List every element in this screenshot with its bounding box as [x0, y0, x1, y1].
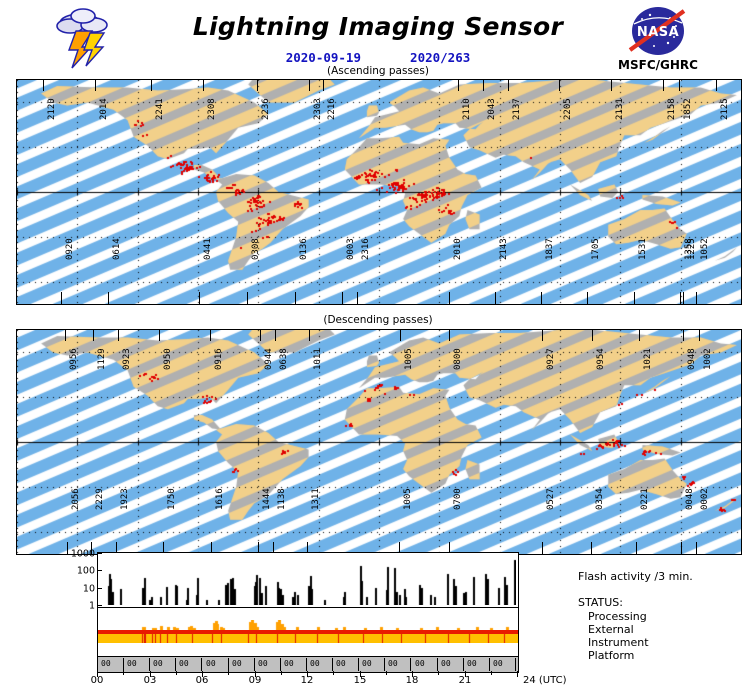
orbit-tick: [683, 330, 684, 341]
orbit-time-label: 2131: [615, 98, 625, 120]
orbit-time-label: 2316: [361, 238, 371, 260]
orbit-tick: [541, 292, 542, 304]
nasa-meatball-icon: NASA: [624, 6, 692, 56]
orbit-tick: [93, 330, 94, 341]
orbit-tick: [592, 330, 593, 341]
orbit-tick: [210, 330, 211, 341]
time-block[interactable]: 00: [438, 658, 464, 671]
time-axis-tick: [386, 671, 387, 675]
orbit-time-label: 2303: [313, 98, 323, 120]
orbit-time-label: 1011: [313, 348, 323, 370]
orbit-time-label: 1002: [703, 348, 713, 370]
orbit-time-label: 0956: [69, 348, 79, 370]
orbit-tick: [199, 292, 200, 304]
status-label-external: External: [588, 623, 634, 636]
time-axis-label: 03: [144, 675, 157, 686]
orbit-time-label: 0136: [299, 238, 309, 260]
time-block[interactable]: 00: [176, 658, 202, 671]
orbit-time-label: 0221: [640, 488, 650, 510]
bottom-panel: 1101001000 00000000000000000000000000000…: [0, 548, 756, 680]
time-block-label: 00: [284, 659, 294, 668]
orbit-tick: [634, 292, 635, 304]
time-axis-tick: [517, 671, 518, 677]
orbit-time-label: 0944: [264, 348, 274, 370]
orbit-time-label: 1750: [167, 488, 177, 510]
orbit-tick: [108, 292, 109, 304]
orbit-time-label: 0527: [546, 488, 556, 510]
time-block[interactable]: 00: [333, 658, 359, 671]
time-axis-label: 21: [459, 675, 472, 686]
orbit-time-label: 2241: [155, 98, 165, 120]
orbit-time-label: 0638: [279, 348, 289, 370]
ascending-passes-map[interactable]: 2120201422412308223623032216211020432137…: [16, 79, 742, 305]
time-axis-tick: [123, 671, 124, 675]
time-block-label: 00: [232, 659, 242, 668]
external-status-canvas: [98, 620, 516, 630]
time-block-label: 00: [467, 659, 477, 668]
svg-text:NASA: NASA: [637, 25, 679, 40]
utc-axis-label: 24 (UTC): [523, 675, 567, 686]
flash-y-tick: [98, 570, 102, 571]
orbit-tick: [680, 292, 681, 304]
ascending-map-canvas: [17, 80, 741, 304]
orbit-tick: [542, 330, 543, 341]
orbit-time-label: 1129: [97, 348, 107, 370]
time-block[interactable]: 00: [412, 658, 438, 671]
orbit-tick: [458, 80, 459, 91]
time-block[interactable]: 00: [385, 658, 411, 671]
time-axis-tick: [176, 671, 177, 675]
orbit-tick: [679, 80, 680, 91]
time-block-label: 00: [206, 659, 216, 668]
orbit-tick: [247, 292, 248, 304]
orbit-time-label: 0003: [346, 238, 356, 260]
orbit-time-label: 1531: [638, 238, 648, 260]
orbit-tick: [611, 80, 612, 91]
orbit-tick: [203, 80, 204, 91]
orbit-tick: [309, 80, 310, 91]
orbit-tick: [342, 292, 343, 304]
orbit-time-label: 1225: [687, 238, 697, 260]
orbit-tick: [309, 330, 310, 341]
orbit-time-label: 1138: [277, 488, 287, 510]
orbit-tick: [323, 80, 324, 91]
orbit-tick: [257, 80, 258, 91]
flash-activity-canvas: [98, 553, 516, 605]
flash-y-tick: [98, 588, 102, 589]
orbit-tick: [260, 330, 261, 341]
orbit-time-label: 1005: [403, 488, 413, 510]
time-block-label: 00: [415, 659, 425, 668]
time-block[interactable]: 00: [229, 658, 255, 671]
time-block[interactable]: 00: [359, 658, 385, 671]
time-axis-label: 18: [406, 675, 419, 686]
orbit-time-label: 0923: [122, 348, 132, 370]
orbit-tick: [275, 330, 276, 341]
orbit-tick: [159, 330, 160, 341]
orbit-time-label: 2043: [487, 98, 497, 120]
orbit-time-label: 2014: [99, 98, 109, 120]
time-block[interactable]: 00: [307, 658, 333, 671]
orbit-time-label: 2216: [327, 98, 337, 120]
time-block[interactable]: 00: [150, 658, 176, 671]
instrument-ticks-canvas: [98, 634, 516, 643]
orbit-tick: [449, 330, 450, 341]
orbit-time-label: 2056: [71, 488, 81, 510]
observation-date: 2020-09-19: [286, 50, 361, 65]
time-axis-label: 12: [301, 675, 314, 686]
status-label-platform: Platform: [588, 649, 634, 662]
orbit-time-label: 0354: [595, 488, 605, 510]
time-axis-tick: [333, 671, 334, 675]
time-block-label: 00: [101, 659, 111, 668]
orbit-time-label: 2229: [95, 488, 105, 510]
time-axis-label: 15: [354, 675, 367, 686]
time-block[interactable]: 00: [464, 658, 490, 671]
day-of-year: 2020/263: [410, 50, 470, 65]
time-block[interactable]: 00: [255, 658, 281, 671]
time-block-label: 00: [388, 659, 398, 668]
orbit-time-label: 0800: [453, 348, 463, 370]
orbit-tick: [43, 80, 44, 91]
agency-label: MSFC/GHRC: [596, 58, 720, 72]
time-block-label: 00: [258, 659, 268, 668]
orbit-time-label: 0048: [685, 488, 695, 510]
orbit-tick: [508, 80, 509, 91]
orbit-tick: [683, 292, 684, 304]
time-block[interactable]: 00: [281, 658, 307, 671]
orbit-tick: [357, 292, 358, 304]
flash-y-tick-label: 10: [83, 584, 95, 594]
time-block[interactable]: 00: [98, 658, 124, 671]
orbit-time-label: 1021: [643, 348, 653, 370]
orbit-tick: [587, 292, 588, 304]
time-axis-label: 06: [196, 675, 209, 686]
orbit-tick: [95, 80, 96, 91]
orbit-tick: [400, 330, 401, 341]
time-axis-label: 09: [249, 675, 262, 686]
time-block-label: 00: [127, 659, 137, 668]
orbit-time-label: 0614: [112, 238, 122, 260]
orbit-time-label: 1837: [545, 238, 555, 260]
orbit-time-label: 1616: [215, 488, 225, 510]
orbit-time-label: 1852: [683, 98, 693, 120]
orbit-tick: [495, 292, 496, 304]
time-axis-label: 00: [91, 675, 104, 686]
time-block-label: 00: [362, 659, 372, 668]
orbit-tick: [663, 80, 664, 91]
orbit-tick: [559, 80, 560, 91]
time-block-label: 00: [493, 659, 503, 668]
orbit-time-label: 0308: [251, 238, 261, 260]
orbit-time-label: 2125: [720, 98, 730, 120]
orbit-time-label: 2236: [261, 98, 271, 120]
time-block-label: 00: [310, 659, 320, 668]
orbit-time-label: 2158: [667, 98, 677, 120]
status-legend-title: STATUS:: [578, 596, 623, 609]
orbit-time-label: 1705: [591, 238, 601, 260]
orbit-time-label: 1005: [404, 348, 414, 370]
time-axis: 0003060912151821: [97, 671, 519, 680]
descending-pass-label: (Descending passes): [0, 314, 756, 326]
orbit-tick: [699, 330, 700, 341]
flash-y-tick: [98, 553, 102, 554]
flash-y-tick-label: 100: [77, 567, 95, 577]
time-block-label: 00: [153, 659, 163, 668]
time-axis-tick: [438, 671, 439, 675]
orbit-time-label: 1052: [700, 238, 710, 260]
page-header: Lightning Imaging Sensor 2020-09-19 2020…: [0, 0, 756, 76]
orbit-time-label: 2308: [207, 98, 217, 120]
orbit-tick: [65, 330, 66, 341]
orbit-tick: [61, 292, 62, 304]
orbit-time-label: 0950: [163, 348, 173, 370]
orbit-time-label: 0002: [700, 488, 710, 510]
orbit-time-label: 0948: [687, 348, 697, 370]
time-axis-tick: [228, 671, 229, 675]
orbit-time-label: 2120: [47, 98, 57, 120]
time-block-label: 00: [441, 659, 451, 668]
orbit-time-label: 2010: [453, 238, 463, 260]
status-label-processing: Processing: [588, 610, 647, 623]
status-row-external: [98, 620, 518, 630]
orbit-tick: [716, 80, 717, 91]
orbit-tick: [483, 80, 484, 91]
orbit-tick: [151, 80, 152, 91]
status-row-spacer: [98, 643, 518, 656]
time-block-label: 00: [336, 659, 346, 668]
orbit-time-label: 1311: [311, 488, 321, 510]
time-block[interactable]: 00: [203, 658, 229, 671]
flash-activity-legend: Flash activity /3 min.: [578, 570, 693, 583]
orbit-tick: [449, 292, 450, 304]
descending-passes-map[interactable]: 0956112909230950091609440638101110050800…: [16, 329, 742, 555]
orbit-time-label: 0441: [203, 238, 213, 260]
time-block-label: 00: [179, 659, 189, 668]
status-chart[interactable]: [97, 607, 519, 657]
flash-y-tick-label: 1: [89, 601, 95, 611]
time-axis-tick: [281, 671, 282, 675]
orbit-time-label: 2110: [462, 98, 472, 120]
flash-y-tick-label: 1000: [71, 549, 95, 559]
orbit-time-label: 1444: [262, 488, 272, 510]
orbit-time-label: 0927: [546, 348, 556, 370]
time-block[interactable]: 00: [124, 658, 150, 671]
time-axis-tick: [491, 671, 492, 675]
flash-y-tick: [98, 605, 102, 606]
orbit-tick: [639, 330, 640, 341]
orbit-time-label: 1923: [120, 488, 130, 510]
flash-activity-chart[interactable]: 1101001000: [97, 552, 519, 608]
orbit-time-label: 2137: [512, 98, 522, 120]
orbit-tick: [118, 330, 119, 341]
status-row-processing: [98, 608, 518, 620]
orbit-tick: [696, 292, 697, 304]
orbit-time-label: 2143: [499, 238, 509, 260]
orbit-time-label: 0954: [596, 348, 606, 370]
status-label-instrument: Instrument: [588, 636, 649, 649]
status-row-platform: [98, 634, 518, 643]
orbit-time-label: 0700: [453, 488, 463, 510]
orbit-time-label: 0920: [65, 238, 75, 260]
time-block[interactable]: 00: [490, 658, 516, 671]
orbit-tick: [295, 292, 296, 304]
orbit-time-label: 2205: [563, 98, 573, 120]
orbit-time-label: 0916: [214, 348, 224, 370]
